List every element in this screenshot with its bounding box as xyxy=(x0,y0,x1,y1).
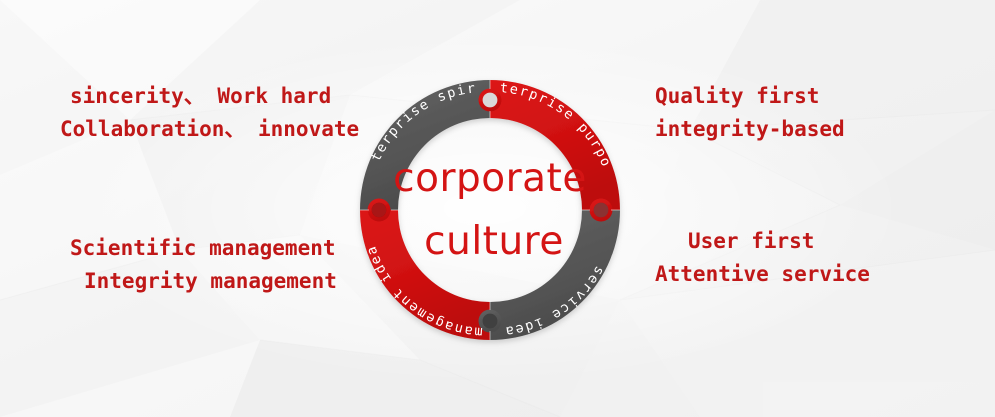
label-top-left-line2: Collaboration、 innovate xyxy=(60,113,359,146)
puzzle-ring: Enterprise spirit Enterprise purpose ser… xyxy=(350,70,630,350)
label-management-idea-text: Scientific management Integrity manageme… xyxy=(70,232,337,298)
label-top-right-line1: Quality first xyxy=(655,80,845,113)
label-enterprise-spirit-text: sincerity、 Work hard Collaboration、 inno… xyxy=(60,80,359,146)
corporate-culture-infographic: sincerity、 Work hard Collaboration、 inno… xyxy=(0,0,995,417)
puzzle-ring-svg: Enterprise spirit Enterprise purpose ser… xyxy=(350,70,630,350)
label-top-right-line2: integrity-based xyxy=(655,113,845,146)
joint-top-socket xyxy=(483,93,498,108)
label-bottom-left-line1: Scientific management xyxy=(70,232,337,265)
label-top-left-line1: sincerity、 Work hard xyxy=(60,80,359,113)
label-bottom-left-line2: Integrity management xyxy=(70,265,337,298)
label-bottom-right-line2: Attentive service xyxy=(655,258,870,291)
label-service-idea-text: User first Attentive service xyxy=(655,225,870,291)
label-bottom-right-line1: User first xyxy=(655,225,870,258)
label-enterprise-purpose-text: Quality first integrity-based xyxy=(655,80,845,146)
joint-right-socket xyxy=(594,203,609,218)
joint-left-socket xyxy=(372,203,387,218)
joint-bottom-socket xyxy=(483,314,498,329)
